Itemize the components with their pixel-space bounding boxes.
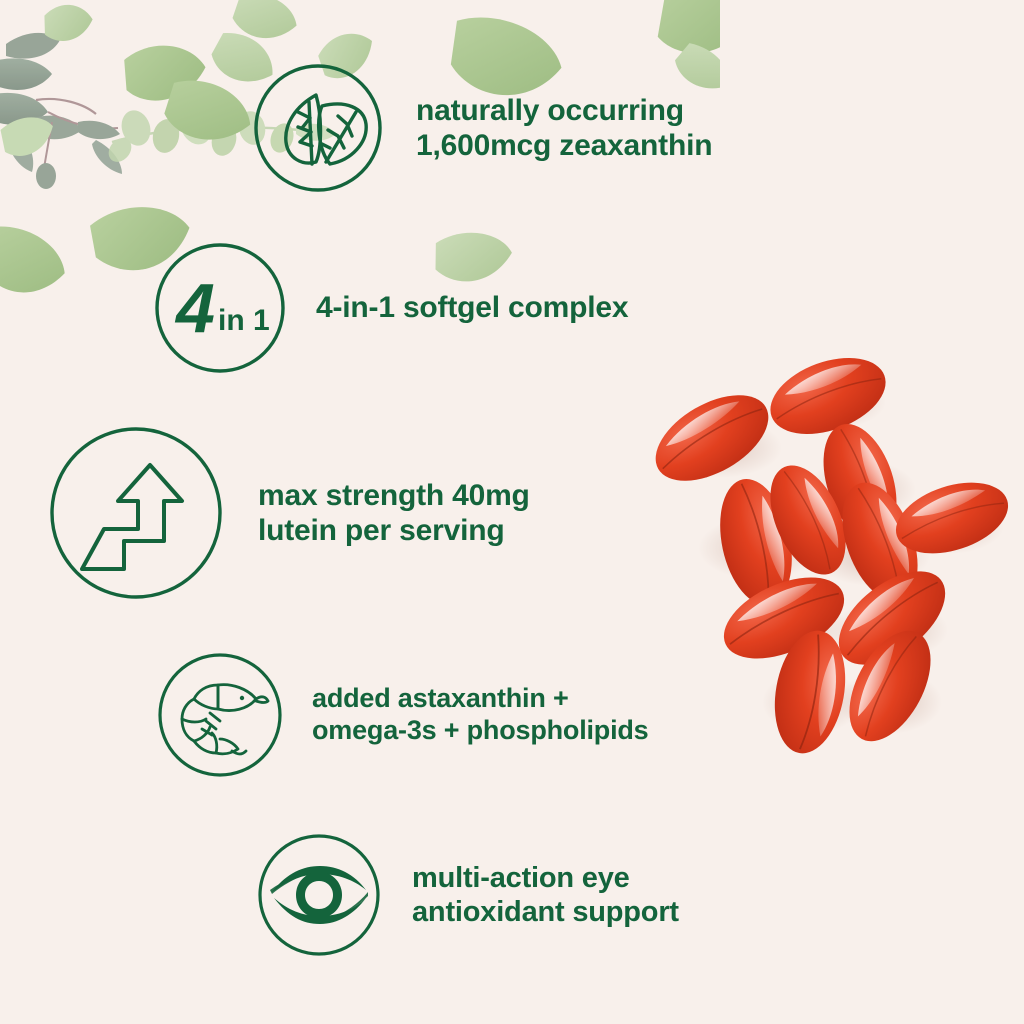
feature-text-softgel-complex: 4-in-1 softgel complex — [316, 290, 628, 325]
four-in-one-number: 4 — [174, 269, 215, 347]
four-in-one-icon: 4 in 1 — [152, 240, 288, 376]
eye-icon — [256, 832, 382, 958]
two-leaves-icon — [252, 62, 384, 194]
feature-row-eye-support: multi-action eye antioxidant support — [256, 832, 679, 958]
eucalyptus-sprig-icon — [0, 33, 122, 189]
shrimp-krill-icon — [156, 651, 284, 779]
feature-text-zeaxanthin: naturally occurring 1,600mcg zeaxanthin — [416, 93, 712, 164]
feature-text-astaxanthin: added astaxanthin + omega-3s + phospholi… — [312, 683, 649, 747]
feature-row-astaxanthin: added astaxanthin + omega-3s + phospholi… — [156, 651, 649, 779]
feature-row-max-strength: max strength 40mg lutein per serving — [46, 423, 530, 603]
feature-row-softgel-complex: 4 in 1 4-in-1 softgel complex — [152, 240, 628, 376]
infographic-canvas: naturally occurring 1,600mcg zeaxanthin … — [0, 0, 1024, 1024]
zigzag-up-arrow-icon — [46, 423, 226, 603]
feature-text-max-strength: max strength 40mg lutein per serving — [258, 478, 530, 549]
feature-row-zeaxanthin: naturally occurring 1,600mcg zeaxanthin — [252, 62, 712, 194]
feature-text-eye-support: multi-action eye antioxidant support — [412, 861, 679, 929]
four-in-one-suffix: in 1 — [218, 304, 270, 337]
